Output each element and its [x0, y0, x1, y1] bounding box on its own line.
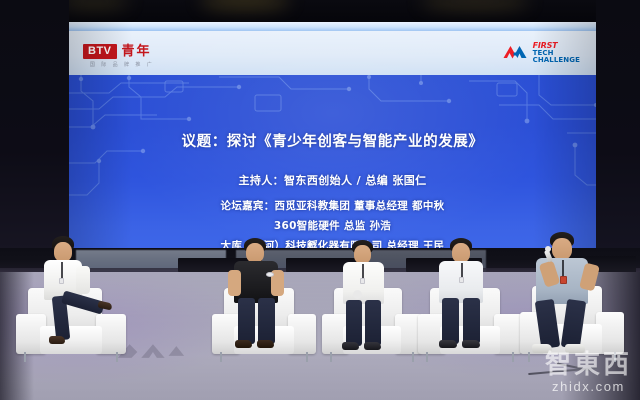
leg-left — [535, 299, 560, 349]
head — [54, 242, 72, 262]
panelist-1 — [16, 236, 128, 368]
btv-logo: BTV 青年 — [83, 44, 152, 59]
handheld-mic — [353, 290, 362, 299]
panelist-3 — [322, 240, 422, 368]
shoe — [565, 344, 585, 353]
screen-top-highlight — [69, 22, 596, 31]
leg-left — [238, 298, 255, 344]
badge — [59, 278, 64, 284]
shoe — [364, 342, 381, 350]
led-screen: BTV 青年 国 际 品 牌 推 广 FIRST TECH CHALLENGE — [69, 22, 596, 250]
badge — [560, 276, 567, 284]
head — [246, 243, 264, 263]
microphone-head — [545, 246, 551, 252]
shoe — [462, 340, 480, 348]
badge — [459, 277, 464, 283]
head — [452, 243, 470, 263]
shoe — [439, 340, 457, 348]
arm-left — [228, 270, 241, 296]
hall-wall-left — [0, 0, 69, 250]
first-tech-challenge-logo: FIRST TECH CHALLENGE — [502, 42, 580, 65]
shoe — [257, 340, 274, 348]
ftc-triangle-icon — [502, 43, 528, 63]
ftc-wordmark: FIRST TECH CHALLENGE — [533, 42, 580, 65]
leg-right — [258, 298, 275, 344]
panelist-5-speaking — [520, 232, 628, 368]
leg-right — [463, 298, 480, 344]
btv-channel-name: 青年 — [122, 45, 152, 58]
badge — [360, 278, 365, 284]
panelist-4 — [418, 238, 522, 368]
ftc-line-challenge: CHALLENGE — [533, 57, 580, 65]
head — [552, 238, 572, 260]
shoe — [342, 342, 359, 350]
leg-right — [365, 300, 381, 346]
leg-right — [561, 299, 586, 349]
screen-host-line: 主持人：智东西创始人 / 总编 张国仁 — [69, 172, 596, 188]
arm-right — [76, 266, 90, 294]
screen-topic-title: 议题：探讨《青少年创客与智能产业的发展》 — [69, 130, 596, 151]
shoe — [235, 340, 252, 348]
btv-subtitle: 国 际 品 牌 推 广 — [83, 62, 161, 68]
screen-logo-band: BTV 青年 国 际 品 牌 推 广 FIRST TECH CHALLENGE — [69, 31, 596, 75]
leg-left — [346, 300, 362, 346]
panelist-2 — [212, 238, 316, 368]
stage-photo: BTV 青年 国 际 品 牌 推 广 FIRST TECH CHALLENGE — [0, 0, 640, 400]
shoe — [532, 344, 552, 353]
screen-guest-line-2: 360智能硬件 总监 孙浩 — [69, 218, 596, 233]
btv-mark-icon: BTV — [83, 44, 117, 59]
leg-left — [442, 298, 459, 344]
hall-wall-right — [596, 0, 640, 250]
badge — [266, 272, 274, 277]
screen-guest-line-1: 论坛嘉宾：西觅亚科教集团 董事总经理 都中秋 — [69, 198, 596, 213]
shoe — [49, 336, 65, 344]
